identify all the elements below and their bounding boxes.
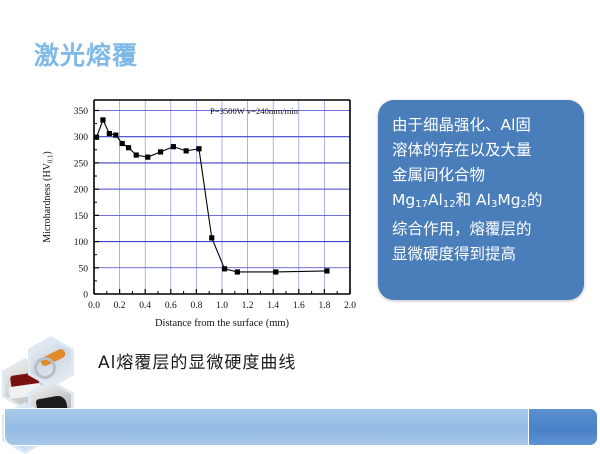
x-tick-label: 0.4: [139, 301, 151, 311]
x-tick-label: 1.8: [318, 301, 330, 311]
formula-mg-sub: 17: [415, 199, 428, 210]
x-tick-label: 0.2: [114, 301, 126, 311]
data-point-marker: [209, 235, 214, 240]
formula-al: Al: [428, 191, 443, 209]
explanation-line-2: 溶体的存在以及大量: [392, 138, 572, 163]
data-point-marker: [196, 146, 201, 151]
data-point-marker: [273, 269, 278, 274]
x-tick-label: 1.2: [242, 301, 254, 311]
formula-tail: 的: [527, 191, 543, 209]
y-tick-label: 350: [74, 107, 89, 117]
x-tick-label: 1.0: [216, 301, 228, 311]
microhardness-chart: 0501001502002503003500.00.20.40.60.81.01…: [32, 92, 362, 332]
formula-mg2: Mg: [497, 191, 520, 209]
data-point-marker: [94, 135, 99, 140]
data-point-marker: [158, 149, 163, 154]
y-tick-label: 250: [74, 159, 89, 169]
slide-canvas: 激光熔覆 0501001502002503003500.00.20.40.60.…: [0, 0, 600, 450]
explanation-formula-line: Mg17Al12和 Al3Mg2的: [392, 188, 572, 217]
x-tick-label: 1.6: [293, 301, 305, 311]
data-point-marker: [100, 117, 105, 122]
y-tick-label: 100: [74, 238, 89, 248]
x-tick-label: 0.8: [190, 301, 202, 311]
y-tick-label: 300: [74, 133, 89, 143]
data-point-marker: [134, 152, 139, 157]
chart-svg: 0501001502002503003500.00.20.40.60.81.01…: [32, 92, 362, 332]
footer-banner-main: [4, 408, 538, 446]
page-title: 激光熔覆: [34, 36, 138, 72]
figure-caption: Al熔覆层的显微硬度曲线: [98, 348, 296, 373]
formula-conjunction: 和: [456, 191, 476, 209]
y-tick-label: 200: [74, 186, 89, 196]
data-point-marker: [171, 144, 176, 149]
y-tick-label: 150: [74, 212, 89, 222]
footer-banner: [0, 404, 600, 450]
chart-annotation: P=3500W v=240mm/min: [210, 106, 299, 116]
data-point-marker: [145, 155, 150, 160]
data-point-marker: [184, 148, 189, 153]
x-tick-label: 0.0: [88, 301, 100, 311]
data-point-marker: [113, 133, 118, 138]
data-point-marker: [324, 268, 329, 273]
formula-mg: Mg: [392, 191, 415, 209]
data-point-marker: [126, 145, 131, 150]
footer-banner-accent: [528, 408, 598, 446]
explanation-line-6: 显微硬度得到提高: [392, 242, 572, 267]
y-axis-title: Microhardness (HV0.1): [42, 151, 54, 243]
x-axis-title: Distance from the surface (mm): [155, 318, 290, 329]
x-tick-label: 2.0: [344, 301, 356, 311]
explanation-line-1: 由于细晶强化、Al固: [392, 113, 572, 138]
formula-al-sub: 12: [443, 199, 456, 210]
explanation-line-3: 金属间化合物: [392, 163, 572, 188]
x-tick-label: 1.4: [267, 301, 279, 311]
data-point-marker: [120, 141, 125, 146]
y-tick-label: 50: [79, 264, 89, 274]
explanation-line-5: 综合作用，熔覆层的: [392, 217, 572, 242]
data-point-marker: [107, 131, 112, 136]
explanation-textbox: 由于细晶强化、Al固 溶体的存在以及大量 金属间化合物 Mg17Al12和 Al…: [378, 100, 584, 300]
data-point-marker: [222, 266, 227, 271]
x-tick-label: 0.6: [165, 301, 177, 311]
data-point-marker: [235, 269, 240, 274]
y-tick-label: 0: [83, 291, 88, 301]
formula-al2: Al: [476, 191, 491, 209]
